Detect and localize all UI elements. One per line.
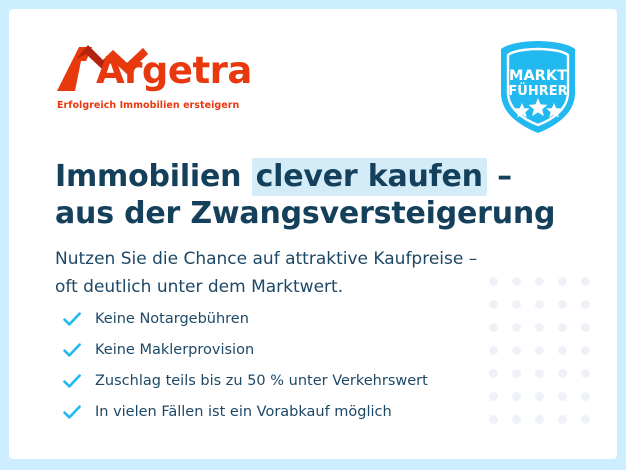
logo-mark-row: Argetra [55, 43, 255, 93]
list-item: Keine Notargebühren [61, 303, 428, 334]
dot [489, 369, 498, 378]
subtitle-line-2: oft deutlich unter dem Marktwert. [55, 273, 477, 301]
shield-badge-icon: MARKT FÜHRER [495, 39, 581, 135]
dot [581, 323, 590, 332]
dot [535, 323, 544, 332]
badge-line1: MARKT [509, 68, 567, 84]
market-leader-badge: MARKT FÜHRER [495, 39, 581, 135]
headline-text-after: – [487, 159, 512, 194]
dot [581, 277, 590, 286]
check-icon [61, 339, 83, 361]
page-title: Immobilien clever kaufen – aus der Zwang… [55, 158, 555, 232]
dot [512, 392, 521, 401]
dot [489, 300, 498, 309]
dot [489, 277, 498, 286]
dot [581, 392, 590, 401]
argetra-logo[interactable]: Argetra Erfolgreich Immobilien ersteiger… [55, 43, 255, 93]
list-item-label: In vielen Fällen ist ein Vorabkauf mögli… [95, 404, 392, 420]
headline-line-2: aus der Zwangsversteigerung [55, 195, 555, 232]
check-icon [61, 370, 83, 392]
list-item: Keine Maklerprovision [61, 334, 428, 365]
dot [581, 346, 590, 355]
dot [581, 369, 590, 378]
list-item-label: Keine Notargebühren [95, 311, 249, 327]
dot [581, 415, 590, 424]
dot [558, 369, 567, 378]
ad-card: Argetra Erfolgreich Immobilien ersteiger… [9, 9, 617, 459]
dot [558, 346, 567, 355]
dot [489, 323, 498, 332]
logo-wordmark: Argetra [96, 50, 252, 92]
dot [535, 277, 544, 286]
dot-grid-decoration [482, 270, 597, 431]
subtitle-line-1: Nutzen Sie die Chance auf attraktive Kau… [55, 245, 477, 273]
dot [535, 415, 544, 424]
list-item: Zuschlag teils bis zu 50 % unter Verkehr… [61, 365, 428, 396]
dot [535, 369, 544, 378]
badge-line2: FÜHRER [508, 83, 567, 99]
headline-highlight: clever kaufen [252, 158, 487, 196]
dot [512, 323, 521, 332]
logo-tagline: Erfolgreich Immobilien ersteigern [57, 100, 239, 111]
dot [535, 300, 544, 309]
dot [535, 392, 544, 401]
dot [512, 300, 521, 309]
benefits-list: Keine NotargebührenKeine Maklerprovision… [61, 303, 428, 427]
dot [558, 300, 567, 309]
list-item: In vielen Fällen ist ein Vorabkauf mögli… [61, 396, 428, 427]
dot [512, 346, 521, 355]
dot [558, 392, 567, 401]
ad-frame: Argetra Erfolgreich Immobilien ersteiger… [0, 0, 626, 470]
dot [535, 346, 544, 355]
headline-text-before: Immobilien [55, 159, 252, 194]
dot [558, 277, 567, 286]
dot [512, 277, 521, 286]
dot [558, 415, 567, 424]
dot [489, 346, 498, 355]
list-item-label: Zuschlag teils bis zu 50 % unter Verkehr… [95, 373, 428, 389]
check-icon [61, 308, 83, 330]
headline-line-1: Immobilien clever kaufen – [55, 158, 555, 195]
check-icon [61, 401, 83, 423]
dot [581, 300, 590, 309]
list-item-label: Keine Maklerprovision [95, 342, 254, 358]
subtitle: Nutzen Sie die Chance auf attraktive Kau… [55, 245, 477, 301]
dot [489, 392, 498, 401]
dot [512, 369, 521, 378]
dot [512, 415, 521, 424]
dot [558, 323, 567, 332]
dot [489, 415, 498, 424]
